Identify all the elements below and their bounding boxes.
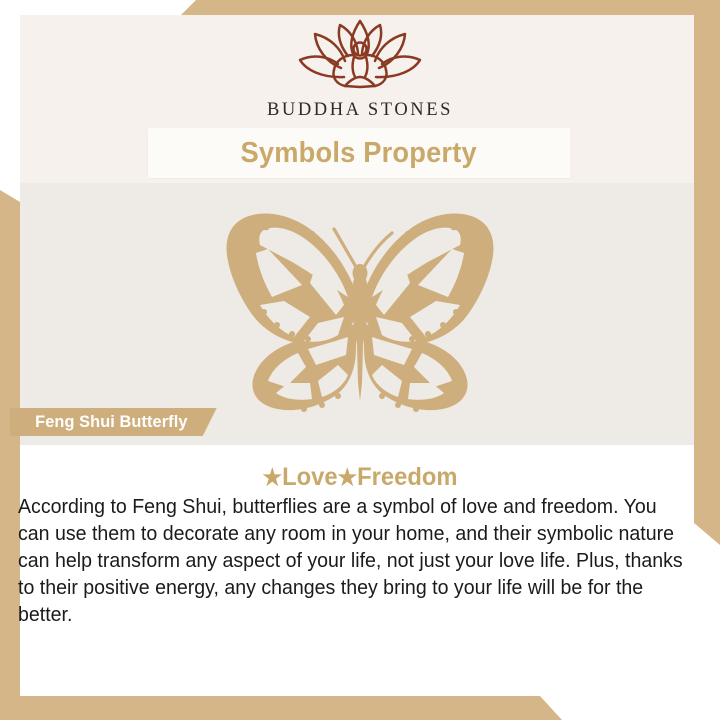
content-subtitle: ★Love★Freedom: [18, 463, 702, 492]
lotus-meditation-logo-icon: [285, 18, 435, 96]
infographic-page: BUDDHA STONES Symbols Property: [0, 0, 720, 720]
page-title: Symbols Property: [241, 137, 477, 170]
tag-label: Feng Shui Butterfly: [35, 412, 187, 432]
frame-left-accent: [0, 190, 20, 720]
body-paragraph: According to Feng Shui, butterflies are …: [18, 494, 684, 629]
star-icon-middle: ★: [338, 464, 358, 490]
subtitle-word-love: Love: [282, 463, 337, 491]
brand-name: BUDDHA STONES: [267, 100, 453, 121]
star-icon-left: ★: [263, 464, 283, 490]
title-banner: Symbols Property: [148, 128, 570, 178]
frame-bottom-accent: [0, 696, 720, 720]
brand-logo: BUDDHA STONES: [0, 18, 720, 121]
butterfly-illustration-icon: [198, 205, 522, 417]
feng-shui-butterfly-tag: Feng Shui Butterfly: [10, 408, 217, 436]
subtitle-word-freedom: Freedom: [357, 463, 457, 491]
frame-top-accent: [0, 0, 720, 15]
